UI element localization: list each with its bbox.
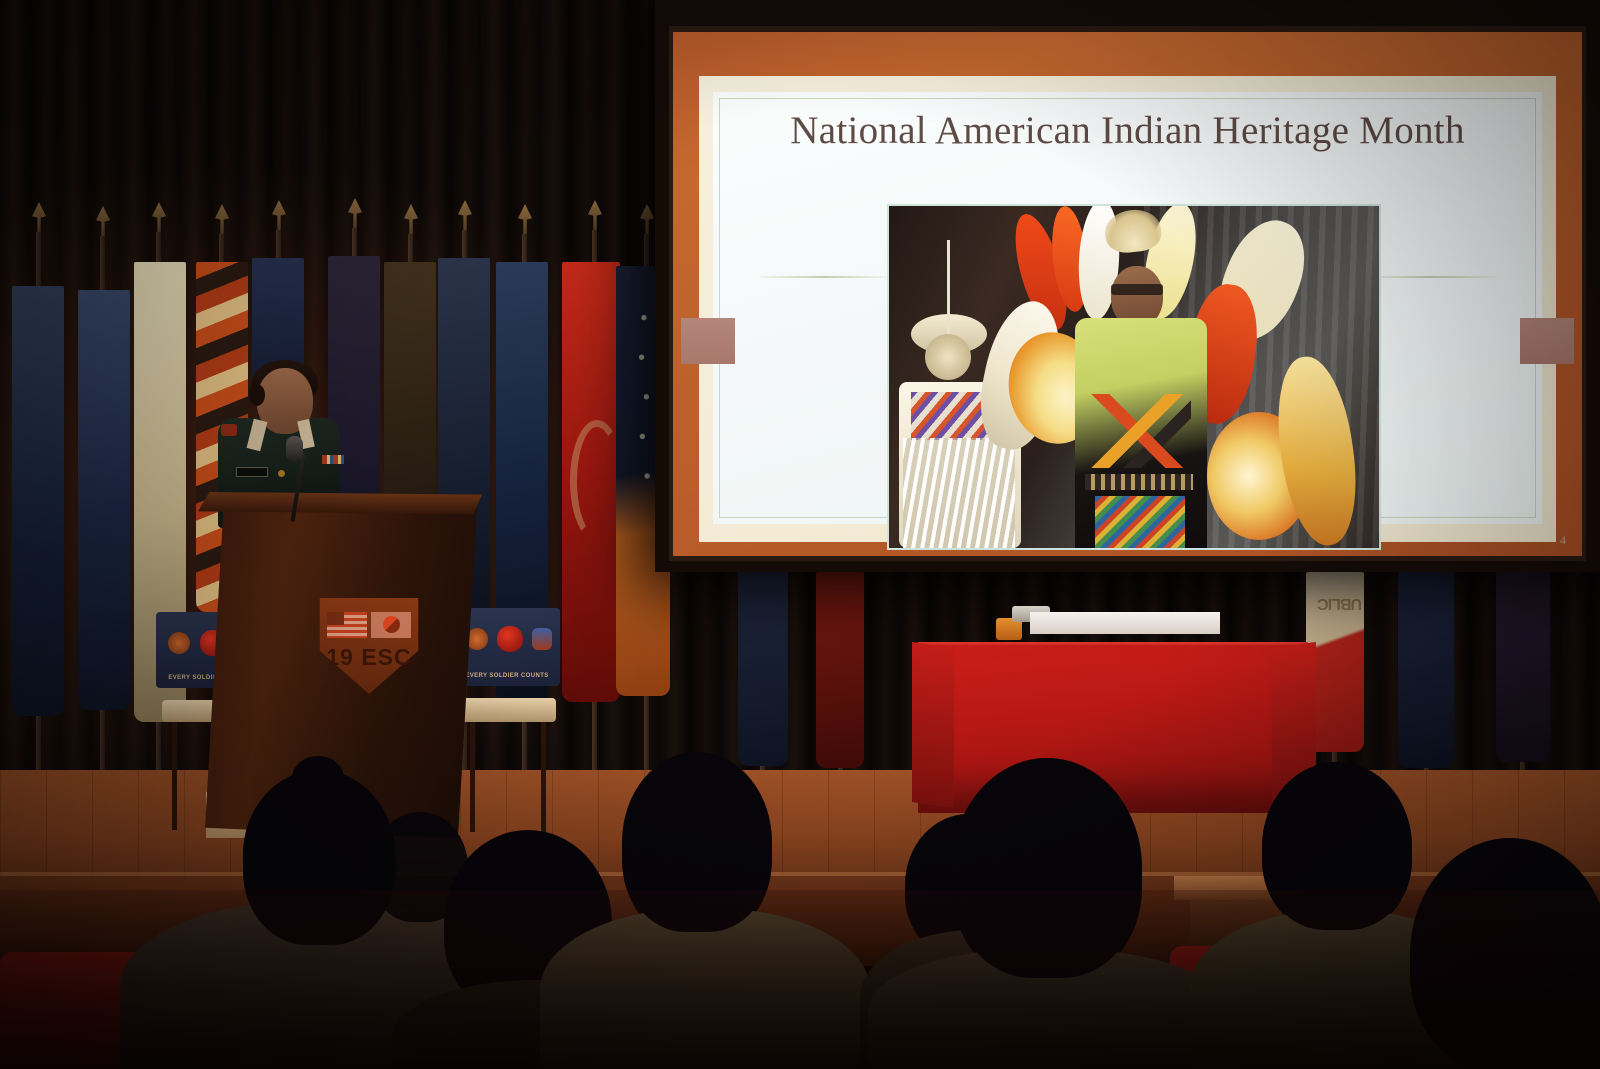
speaker-nametape	[236, 467, 268, 477]
chair-seat	[460, 698, 556, 722]
flag-13	[816, 572, 864, 768]
flag-15	[1398, 572, 1454, 768]
flag-16	[1496, 572, 1550, 762]
slide-rule-left	[759, 276, 889, 278]
south-korea-flag-icon	[371, 612, 411, 638]
speaker-button	[278, 470, 285, 477]
table-cloth-drape-left	[912, 642, 954, 808]
flag-12	[738, 566, 788, 766]
slide-number: 4	[1560, 533, 1566, 548]
projection-screen: National American Indian Heritage Month	[655, 0, 1600, 572]
dancer1-chevron-applique	[1087, 394, 1191, 468]
audience-head	[622, 752, 772, 932]
audience-shoulders-camo	[540, 908, 870, 1069]
us-flag-icon	[327, 612, 367, 638]
speaker-shoulder-board	[221, 424, 237, 436]
slide-title: National American Indian Heritage Month	[673, 108, 1582, 153]
screen-frame: National American Indian Heritage Month	[669, 26, 1586, 561]
audience-head	[1262, 762, 1412, 930]
chair-legs	[464, 722, 552, 832]
flag-1	[12, 286, 64, 716]
presentation-slide: National American Indian Heritage Month	[673, 32, 1582, 556]
chair-patch-2	[497, 626, 523, 652]
chair-patch-1	[168, 632, 190, 654]
slide-photo-powwow-dancers	[887, 204, 1381, 550]
speaker-ribbon-rack	[322, 455, 344, 464]
chair-patch-3	[532, 628, 552, 650]
dancer2-fringe	[903, 438, 1015, 548]
slide-tab-right	[1520, 318, 1574, 364]
ceremony-photograph: UBLIC National American Indian Heritage …	[0, 0, 1600, 1069]
flag-2	[78, 290, 130, 710]
microphone-icon	[286, 436, 303, 462]
slide-rule-right	[1366, 276, 1496, 278]
crest-label: 19 ESC	[313, 644, 425, 671]
glasses-icon	[1111, 284, 1163, 295]
podium-crest-19esc: 19 ESC	[313, 598, 425, 694]
dancer2-staff	[947, 240, 950, 344]
table-binder	[1030, 612, 1220, 634]
dancer1-belt	[1085, 474, 1193, 490]
table-cloth	[918, 645, 1308, 813]
flag-text-mark: UBLIC	[1312, 582, 1362, 612]
audience-hair-bun	[292, 756, 344, 800]
chair-cover-text: EVERY SOLDIER COUNTS	[454, 673, 560, 679]
taegeuk-icon	[383, 616, 400, 633]
podium-lectern-top	[198, 492, 482, 514]
audience-head	[952, 758, 1142, 978]
dancer1-beadwork-leggings	[1095, 496, 1185, 548]
slide-tab-left	[681, 318, 735, 364]
audience-head	[1410, 838, 1600, 1069]
dancer2-headdress	[925, 334, 971, 380]
speaker-hair-bun	[249, 384, 265, 406]
